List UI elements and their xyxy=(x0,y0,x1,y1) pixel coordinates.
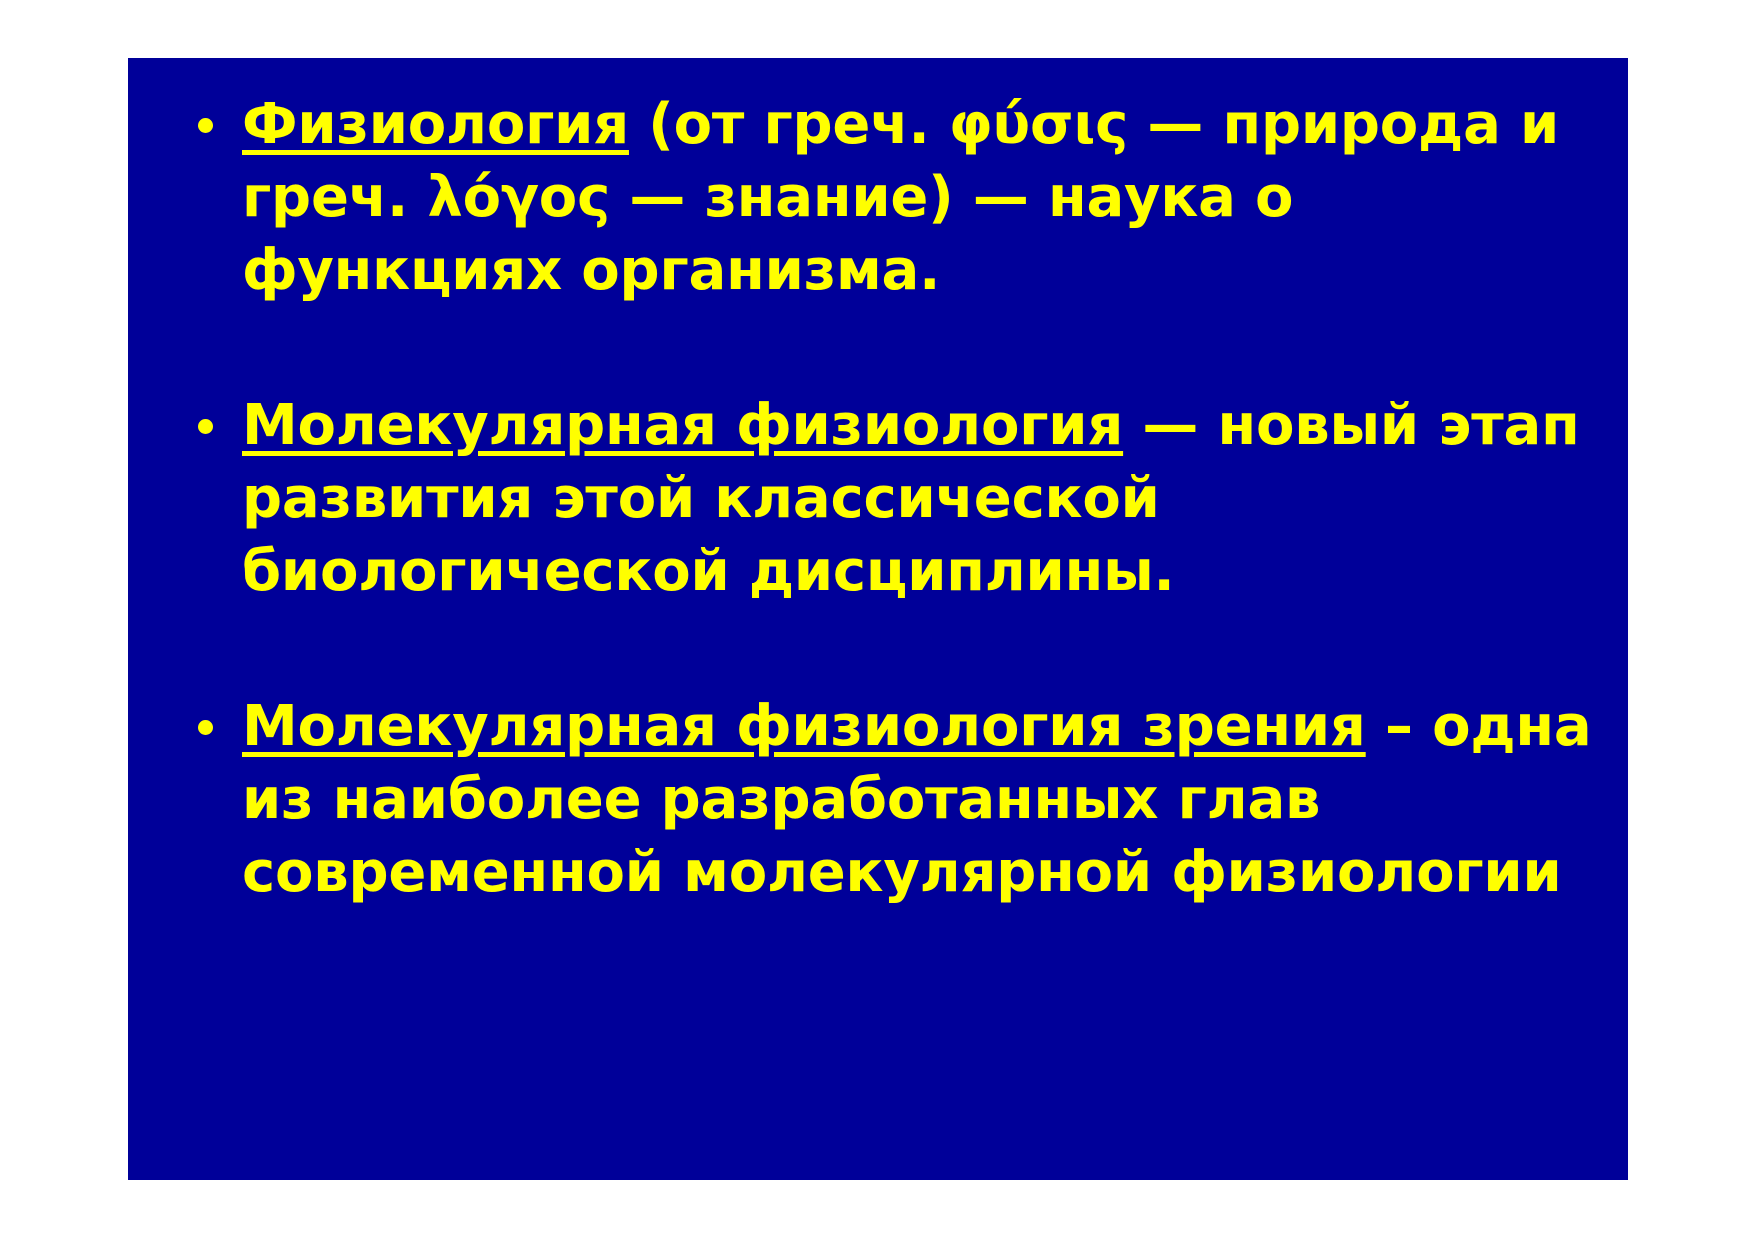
lead-term: Молекулярная физиология зрения xyxy=(242,694,1366,759)
round-bullet-icon xyxy=(198,118,213,133)
bullet-line: Физиология (от греч. φύσις — природа и г… xyxy=(242,88,1608,307)
bullet-list: Физиология (от греч. φύσις — природа и г… xyxy=(190,88,1608,909)
lead-term: Молекулярная физиология xyxy=(242,393,1123,458)
bullet-line: Молекулярная физиология — новый этап раз… xyxy=(242,389,1608,608)
bullet-line: Молекулярная физиология зрения – одна из… xyxy=(242,690,1608,909)
presentation-slide: Физиология (от греч. φύσις — природа и г… xyxy=(128,58,1628,1180)
list-item: Физиология (от греч. φύσις — природа и г… xyxy=(190,88,1608,307)
list-item: Молекулярная физиология зрения – одна из… xyxy=(190,690,1608,909)
lead-term: Физиология xyxy=(242,92,629,157)
round-bullet-icon xyxy=(198,720,213,735)
round-bullet-icon xyxy=(198,419,213,434)
list-item: Молекулярная физиология — новый этап раз… xyxy=(190,389,1608,608)
slide-canvas: Физиология (от греч. φύσις — природа и г… xyxy=(0,0,1754,1240)
